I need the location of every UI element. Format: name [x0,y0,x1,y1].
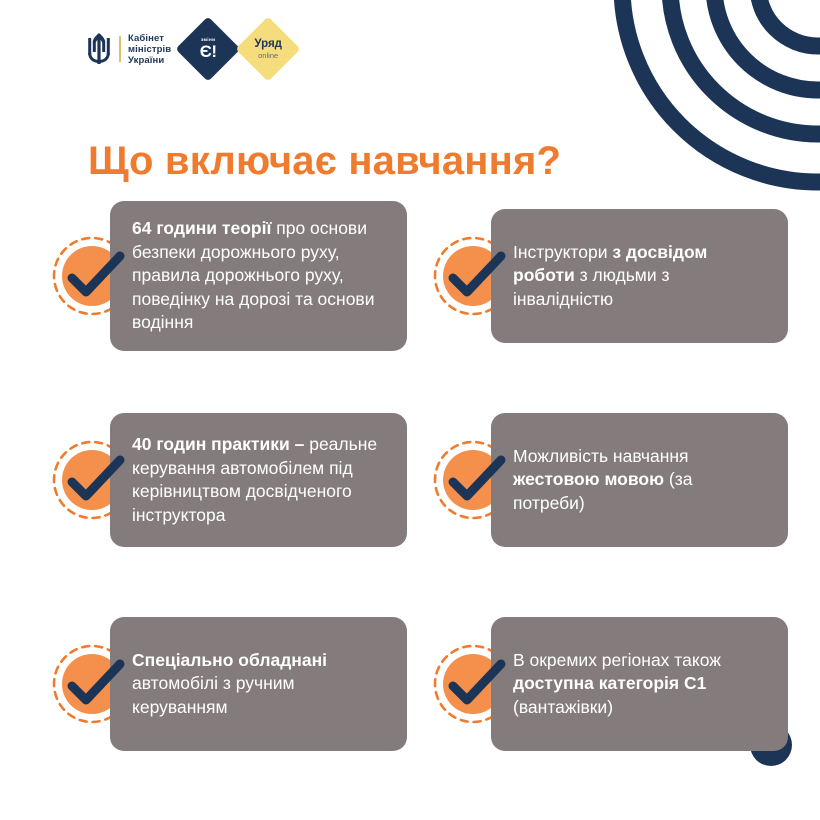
feature-item-experienced-instructors: Інструктори з досвідом роботи з людьми з… [429,196,788,356]
online-label: online [254,52,282,60]
slide-canvas: Кабінет міністрів України зміни Є! Уряд … [0,0,820,820]
uriad-online-logo: Уряд online [245,26,291,72]
feature-card-category-c1: В окремих регіонах також доступна катего… [491,617,788,751]
cabinet-of-ministers-logo: Кабінет міністрів України [86,32,171,66]
features-grid: 64 години теорії про основи безпеки доро… [48,196,788,764]
logo-divider [119,36,121,62]
ukraine-trident-icon [86,32,112,66]
diia-ye-mark: Є! [200,43,217,60]
feature-text-adapted-cars: Спеціально обладнані автомобілі з ручним… [132,649,387,720]
uriad-label: Уряд [254,39,282,51]
page-title: Що включає навчання? [88,139,561,184]
feature-item-sign-language: Можливість навчання жестовою мовою (за п… [429,400,788,560]
feature-card-hours-theory: 64 години теорії про основи безпеки доро… [110,201,407,351]
feature-text-category-c1: В окремих регіонах також доступна катего… [513,649,768,720]
feature-text-hours-theory: 64 години теорії про основи безпеки доро… [132,217,387,335]
cabinet-of-ministers-label: Кабінет міністрів України [128,33,171,66]
diia-logo-inner: зміни Є! [200,38,217,61]
feature-card-sign-language: Можливість навчання жестовою мовою (за п… [491,413,788,547]
uriad-logo-inner: Уряд online [254,39,282,59]
feature-item-hours-practice: 40 годин практики – реальне керування ав… [48,400,407,560]
feature-text-hours-practice: 40 годин практики – реальне керування ав… [132,433,387,527]
feature-item-hours-theory: 64 години теорії про основи безпеки доро… [48,196,407,356]
feature-text-sign-language: Можливість навчання жестовою мовою (за п… [513,445,768,516]
feature-item-adapted-cars: Спеціально обладнані автомобілі з ручним… [48,604,407,764]
feature-card-experienced-instructors: Інструктори з досвідом роботи з людьми з… [491,209,788,343]
feature-text-experienced-instructors: Інструктори з досвідом роботи з людьми з… [513,241,768,312]
feature-card-adapted-cars: Спеціально обладнані автомобілі з ручним… [110,617,407,751]
feature-card-hours-practice: 40 годин практики – реальне керування ав… [110,413,407,547]
cabinet-line-3: України [128,55,171,66]
cabinet-line-2: міністрів [128,44,171,55]
concentric-arcs-decoration [560,0,820,210]
diia-zminy-logo: зміни Є! [185,26,231,72]
logo-bar: Кабінет міністрів України зміни Є! Уряд … [86,26,291,72]
cabinet-line-1: Кабінет [128,33,171,44]
feature-item-category-c1: В окремих регіонах також доступна катего… [429,604,788,764]
